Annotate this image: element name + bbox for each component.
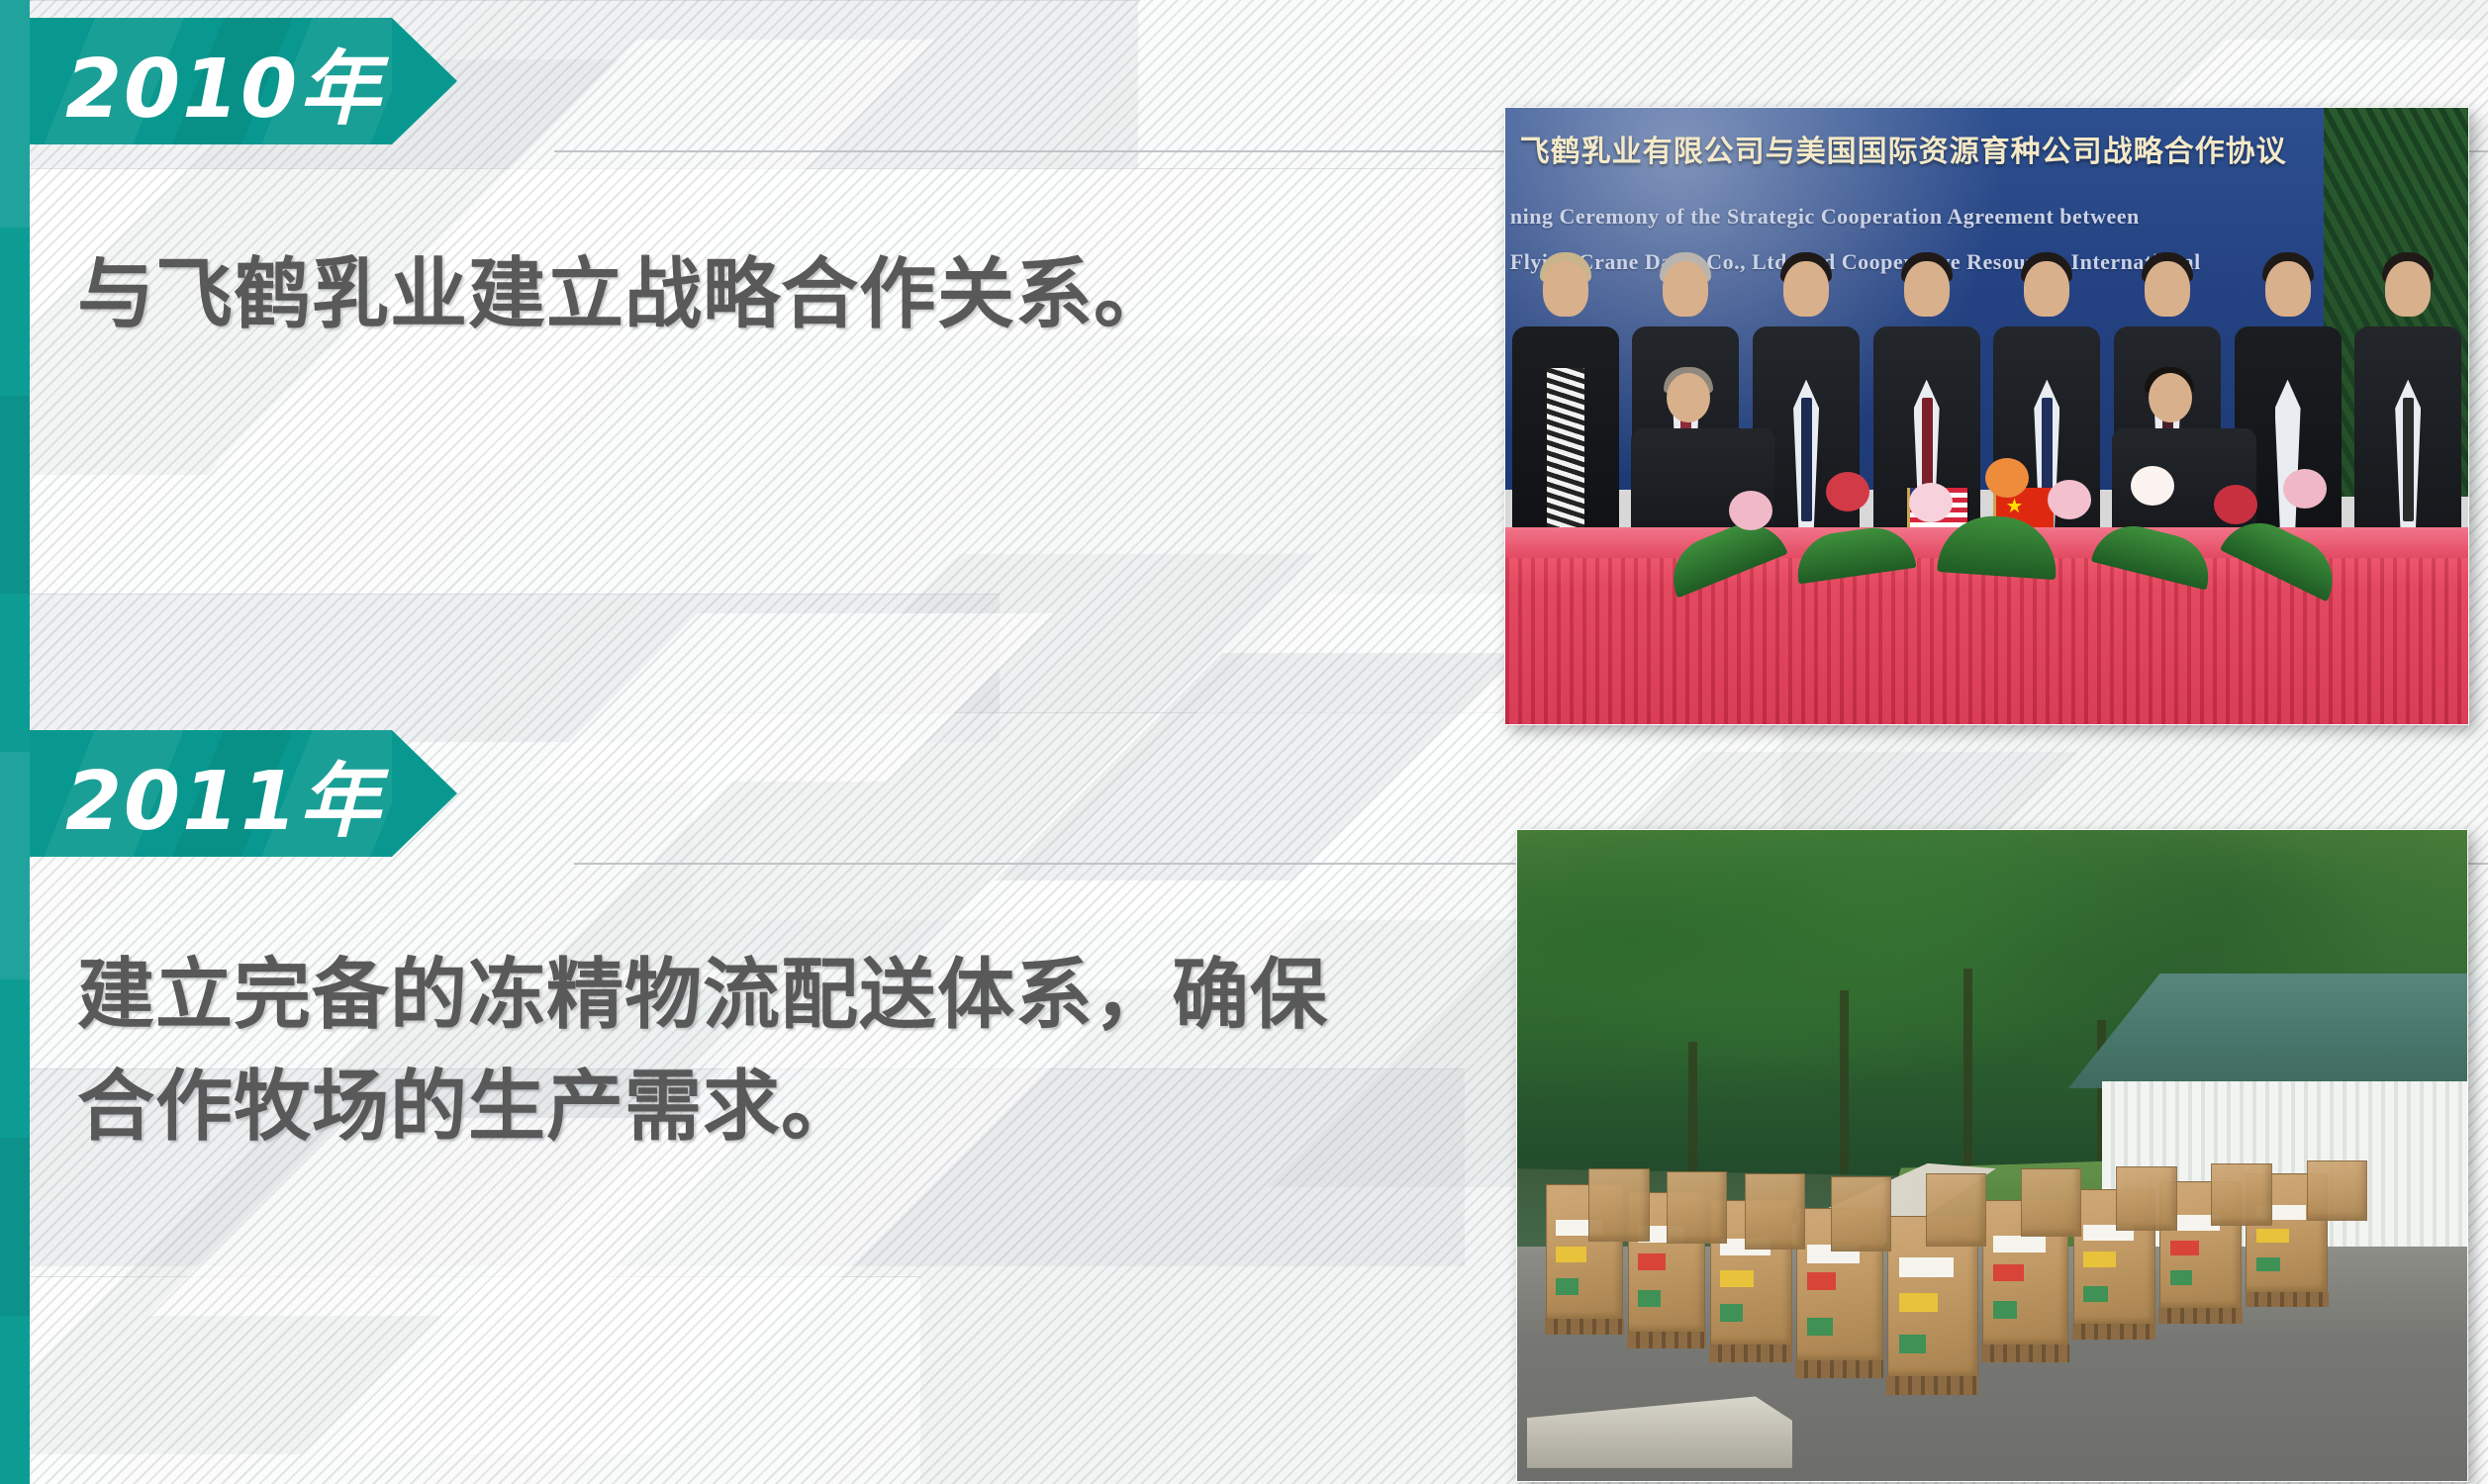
bloom	[1909, 483, 1953, 522]
body-text-2011-line-2: 合作牧场的生产需求。	[77, 1052, 1483, 1163]
head	[2024, 261, 2069, 317]
carton-box	[2116, 1166, 2176, 1232]
wood-pallet	[2158, 1308, 2242, 1323]
box-label-handling	[1638, 1290, 1661, 1307]
year-label-2010: 2010年	[65, 23, 382, 140]
slide-root: 2010年 与飞鹤乳业建立战略合作关系。 飞鹤乳业有限公司与美国国际资源育种公司…	[0, 0, 2488, 1484]
head	[2149, 373, 2192, 422]
box-label-handling	[1899, 1335, 1926, 1353]
blouse	[1547, 368, 1584, 533]
head	[2385, 261, 2431, 317]
bloom	[2131, 466, 2174, 506]
box-label	[1899, 1257, 1955, 1276]
rail-facet-2	[0, 396, 30, 594]
box-label-warning	[2256, 1229, 2288, 1243]
banner-tip-2011	[392, 730, 457, 857]
box-label	[1993, 1236, 2046, 1252]
photo1-person-8	[2347, 243, 2468, 539]
carton-box	[2021, 1168, 2081, 1236]
tree-trunk	[1963, 969, 1972, 1194]
body-text-2011-line-1: 建立完备的冻精物流配送体系，确保	[77, 940, 1483, 1052]
bloom	[1985, 458, 2029, 498]
box-label-handling	[2170, 1270, 2193, 1285]
head	[2265, 261, 2311, 317]
body-text-2010: 与飞鹤乳业建立战略合作关系。	[77, 235, 1463, 355]
photo1-banner-chinese-text: 飞鹤乳业有限公司与美国国际资源育种公司战略合作协议	[1520, 127, 2406, 170]
wood-pallet	[1886, 1376, 1978, 1395]
body-text-2011: 建立完备的冻精物流配送体系，确保 合作牧场的生产需求。	[77, 940, 1483, 1163]
rail-facet-3	[0, 752, 30, 979]
frozen-semen-shipment-photo	[1516, 829, 2468, 1482]
photo1-person-1	[1505, 243, 1626, 539]
head	[1543, 261, 1588, 317]
wood-pallet	[2246, 1292, 2329, 1306]
carton-box	[1926, 1173, 1986, 1247]
wood-pallet	[1709, 1345, 1792, 1361]
carton-box	[1831, 1176, 1891, 1252]
box-label-hazard	[1638, 1253, 1666, 1270]
leaf	[1937, 512, 2059, 580]
banner-tip-2010	[392, 18, 457, 144]
tie	[2403, 398, 2414, 522]
body-text-2010-line-1: 与飞鹤乳业建立战略合作关系。	[77, 235, 1463, 355]
bloom	[1729, 491, 1772, 530]
signing-ceremony-photo: 飞鹤乳业有限公司与美国国际资源育种公司战略合作协议 ning Ceremony …	[1504, 107, 2469, 725]
bloom	[2048, 480, 2091, 519]
photo2-pallet-stacks	[1546, 1168, 2411, 1429]
leaf	[1792, 523, 1916, 585]
box-label-warning	[1556, 1247, 1586, 1262]
year-label-2011: 2011年	[65, 735, 382, 853]
tree-trunk	[1840, 990, 1849, 1194]
box-label-handling	[1807, 1318, 1833, 1336]
head	[1667, 373, 1710, 422]
photo1-banner-english-line-1: ning Ceremony of the Strategic Cooperati…	[1510, 204, 2140, 230]
box-label-handling	[1556, 1278, 1579, 1294]
box-label-handling	[2083, 1286, 2107, 1302]
photo1-flower-arrangement	[1660, 440, 2353, 576]
bloom	[2283, 469, 2327, 509]
box-label-warning	[1899, 1293, 1938, 1312]
left-accent-rail	[0, 0, 30, 1484]
box-label-warning	[2083, 1252, 2115, 1267]
carton-box	[2211, 1163, 2271, 1226]
carton-box	[1588, 1168, 1649, 1242]
carton-box	[2307, 1160, 2367, 1221]
box-label-hazard	[1807, 1272, 1836, 1290]
box-label-handling	[1720, 1304, 1743, 1321]
wood-pallet	[1545, 1319, 1624, 1335]
box-label-warning	[1720, 1270, 1754, 1287]
wood-pallet	[1795, 1360, 1883, 1378]
building-green-roof	[2068, 974, 2467, 1088]
carton-box	[1745, 1173, 1805, 1249]
rail-facet-4	[0, 1138, 30, 1316]
head	[1663, 261, 1708, 317]
head	[1904, 261, 1950, 317]
wood-pallet	[2072, 1324, 2155, 1340]
box-label-handling	[2256, 1257, 2280, 1271]
year-banner-2010: 2010年	[30, 18, 457, 144]
wood-pallet	[1981, 1345, 2069, 1361]
wood-pallet	[1627, 1332, 1706, 1348]
bloom	[2214, 485, 2257, 524]
carton-box	[1667, 1171, 1727, 1245]
year-banner-2011: 2011年	[30, 730, 457, 857]
head	[2145, 261, 2190, 317]
box-label-hazard	[2170, 1241, 2199, 1255]
box-label-hazard	[1993, 1264, 2024, 1281]
head	[1783, 261, 1829, 317]
rail-facet-1	[0, 0, 30, 228]
box-label-handling	[1993, 1301, 2017, 1318]
bloom	[1826, 472, 1869, 511]
